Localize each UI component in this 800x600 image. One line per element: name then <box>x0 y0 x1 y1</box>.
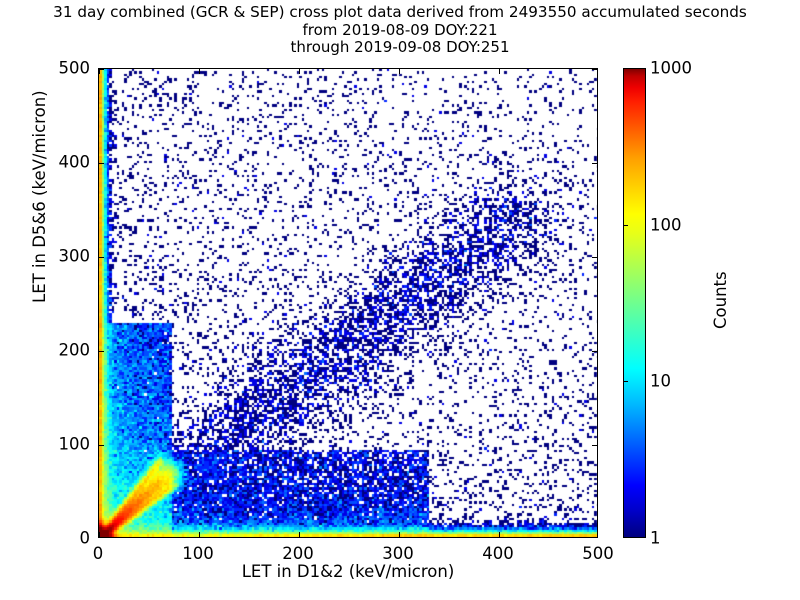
x-tick-top <box>299 69 300 74</box>
x-tick-top <box>499 69 500 74</box>
title-line-1: 31 day combined (GCR & SEP) cross plot d… <box>0 4 800 22</box>
y-tick-right <box>592 445 597 446</box>
y-tick-right <box>592 69 597 70</box>
y-tick <box>99 69 104 70</box>
y-tick-label: 200 <box>46 341 90 360</box>
y-tick <box>99 257 104 258</box>
figure-root: 31 day combined (GCR & SEP) cross plot d… <box>0 0 800 600</box>
title-line-2: from 2019-08-09 DOY:221 <box>0 22 800 40</box>
x-tick-label: 0 <box>93 544 104 563</box>
x-axis-label: LET in D1&2 (keV/micron) <box>98 562 598 581</box>
colorbar-tick <box>623 381 628 382</box>
x-tick-label: 300 <box>382 544 414 563</box>
x-tick-top <box>199 69 200 74</box>
x-tick <box>99 532 100 537</box>
y-tick-label: 400 <box>46 153 90 172</box>
y-tick <box>99 351 104 352</box>
y-tick-right <box>592 351 597 352</box>
density-scatter-plot <box>99 69 598 538</box>
figure-title: 31 day combined (GCR & SEP) cross plot d… <box>0 4 800 57</box>
colorbar-tick-label: 1 <box>650 529 661 548</box>
x-tick <box>199 532 200 537</box>
plot-area <box>98 68 598 538</box>
x-tick <box>399 532 400 537</box>
y-tick-right <box>592 257 597 258</box>
colorbar-tick-label: 10 <box>650 372 671 391</box>
y-tick-label: 300 <box>46 247 90 266</box>
colorbar-title: Counts <box>711 271 730 329</box>
y-tick-label: 0 <box>46 529 90 548</box>
x-tick-top <box>399 69 400 74</box>
scatter-canvas-holder <box>99 69 597 537</box>
x-tick-label: 200 <box>282 544 314 563</box>
colorbar-tick-label: 1000 <box>650 59 692 78</box>
x-tick <box>299 532 300 537</box>
y-tick-right <box>592 163 597 164</box>
y-tick-label: 100 <box>46 435 90 454</box>
x-tick <box>499 532 500 537</box>
y-axis-label: LET in D5&6 (keV/micron) <box>30 90 49 303</box>
x-tick-label: 500 <box>582 544 614 563</box>
title-line-3: through 2019-09-08 DOY:251 <box>0 39 800 57</box>
y-tick-label: 500 <box>46 59 90 78</box>
y-tick <box>99 163 104 164</box>
colorbar-gradient <box>623 68 646 538</box>
colorbar-tick-label: 100 <box>650 215 682 234</box>
x-tick-label: 100 <box>182 544 214 563</box>
x-tick-label: 400 <box>482 544 514 563</box>
colorbar-tick <box>623 225 628 226</box>
y-tick <box>99 445 104 446</box>
